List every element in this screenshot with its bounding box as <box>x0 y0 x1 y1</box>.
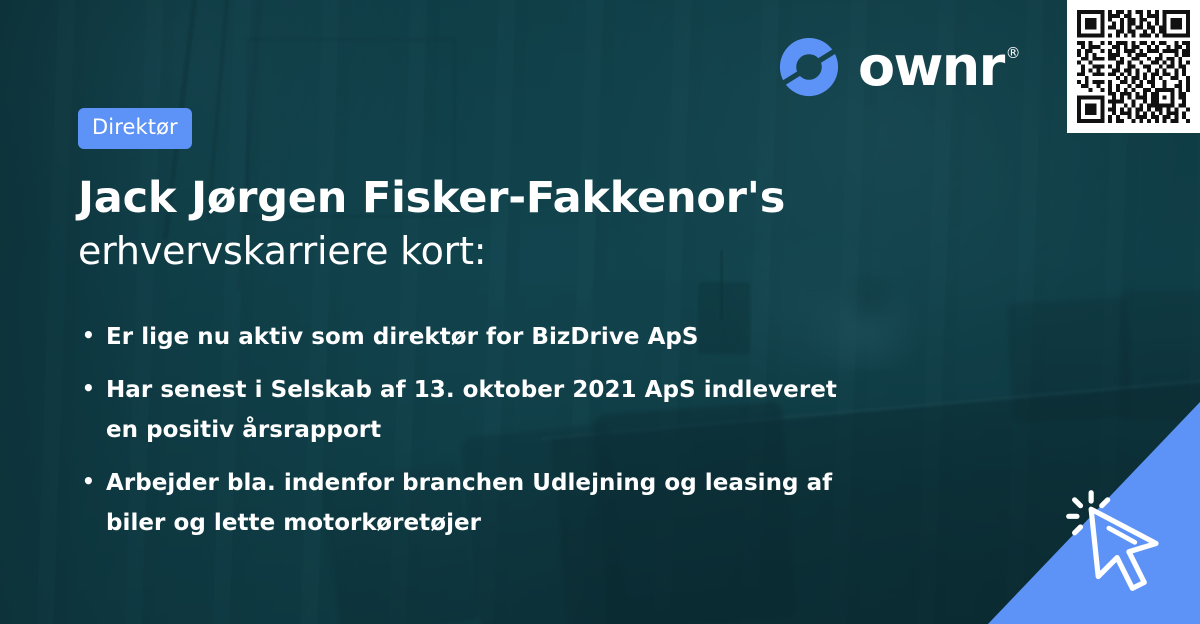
click-cursor-icon <box>1064 488 1182 606</box>
list-item: Har senest i Selskab af 13. oktober 2021… <box>78 371 848 450</box>
qr-code-panel[interactable] <box>1067 0 1200 133</box>
ownr-wordmark-text: ownr <box>858 42 1004 92</box>
list-item: Arbejder bla. indenfor branchen Udlejnin… <box>78 464 848 543</box>
list-item: Er lige nu aktiv som direktør for BizDri… <box>78 318 848 358</box>
business-card: Direktør Jack Jørgen Fisker-Fakkenor's e… <box>0 0 1200 624</box>
career-facts-list: Er lige nu aktiv som direktør for BizDri… <box>78 318 848 544</box>
role-badge: Direktør <box>78 108 192 149</box>
ownr-logo: ownr ® <box>778 36 1021 98</box>
page-title-line-1: Jack Jørgen Fisker-Fakkenor's <box>78 173 1200 224</box>
page-title-line-2: erhvervskarriere kort: <box>78 229 1200 274</box>
ownr-wordmark: ownr ® <box>858 42 1021 92</box>
qr-code-icon[interactable] <box>1077 10 1190 123</box>
page-title: Jack Jørgen Fisker-Fakkenor's erhvervska… <box>78 173 1200 274</box>
ownr-circle-swoosh-icon <box>778 36 840 98</box>
registered-trademark-icon: ® <box>1006 46 1021 61</box>
